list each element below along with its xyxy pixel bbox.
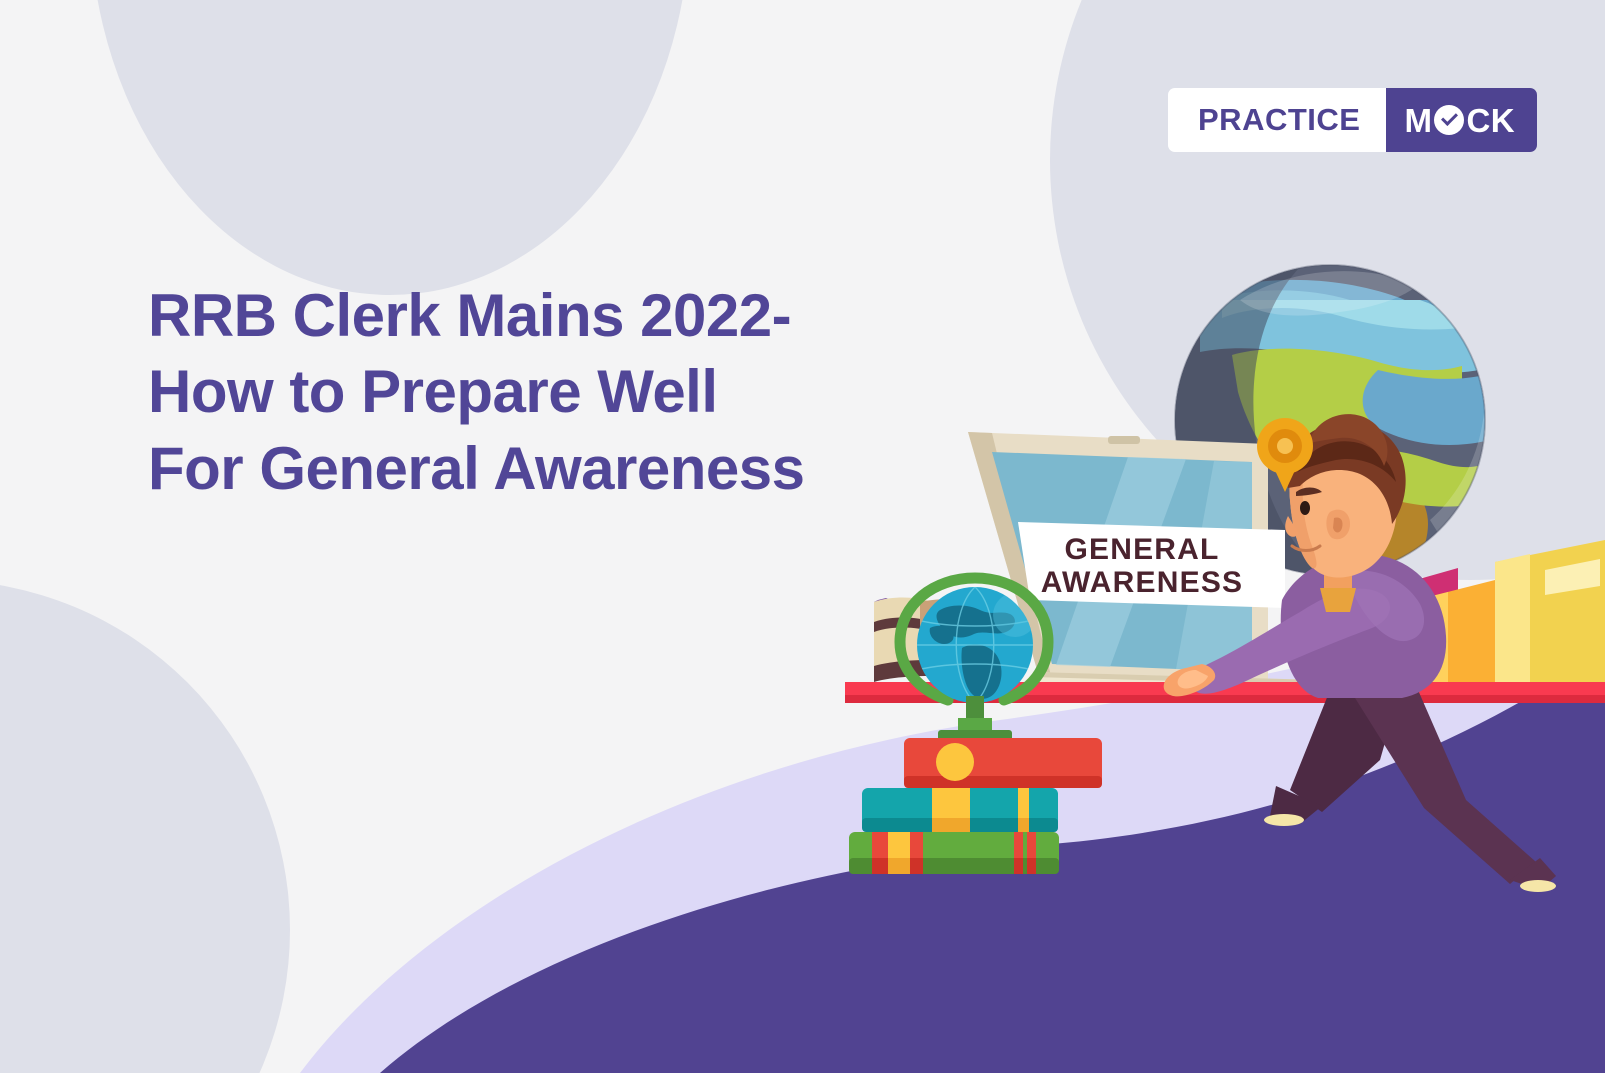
logo-mock-m: M [1404,104,1432,137]
logo-practice-text: PRACTICE [1168,88,1386,152]
page-title-line-2: How to Prepare Well [148,354,908,430]
page-title-line-3: For General Awareness [148,431,908,507]
svg-text:GENERAL: GENERAL [1064,533,1219,566]
book-stack-floor [849,738,1102,874]
practicemock-logo[interactable]: PRACTICE M CK [1168,88,1537,152]
laptop-screen-text: GENERAL AWARENESS [1041,533,1244,599]
page-title-line-1: RRB Clerk Mains 2022- [148,278,908,354]
logo-mock-block: M CK [1386,88,1537,152]
svg-text:AWARENESS: AWARENESS [1041,566,1244,599]
banner-canvas: GENERAL AWARENESS [0,0,1605,1073]
page-title: RRB Clerk Mains 2022- How to Prepare Wel… [148,278,908,507]
check-circle-icon [1434,105,1464,135]
logo-mock-ck: CK [1466,104,1515,137]
illustration-artwork: GENERAL AWARENESS [0,0,1605,1073]
